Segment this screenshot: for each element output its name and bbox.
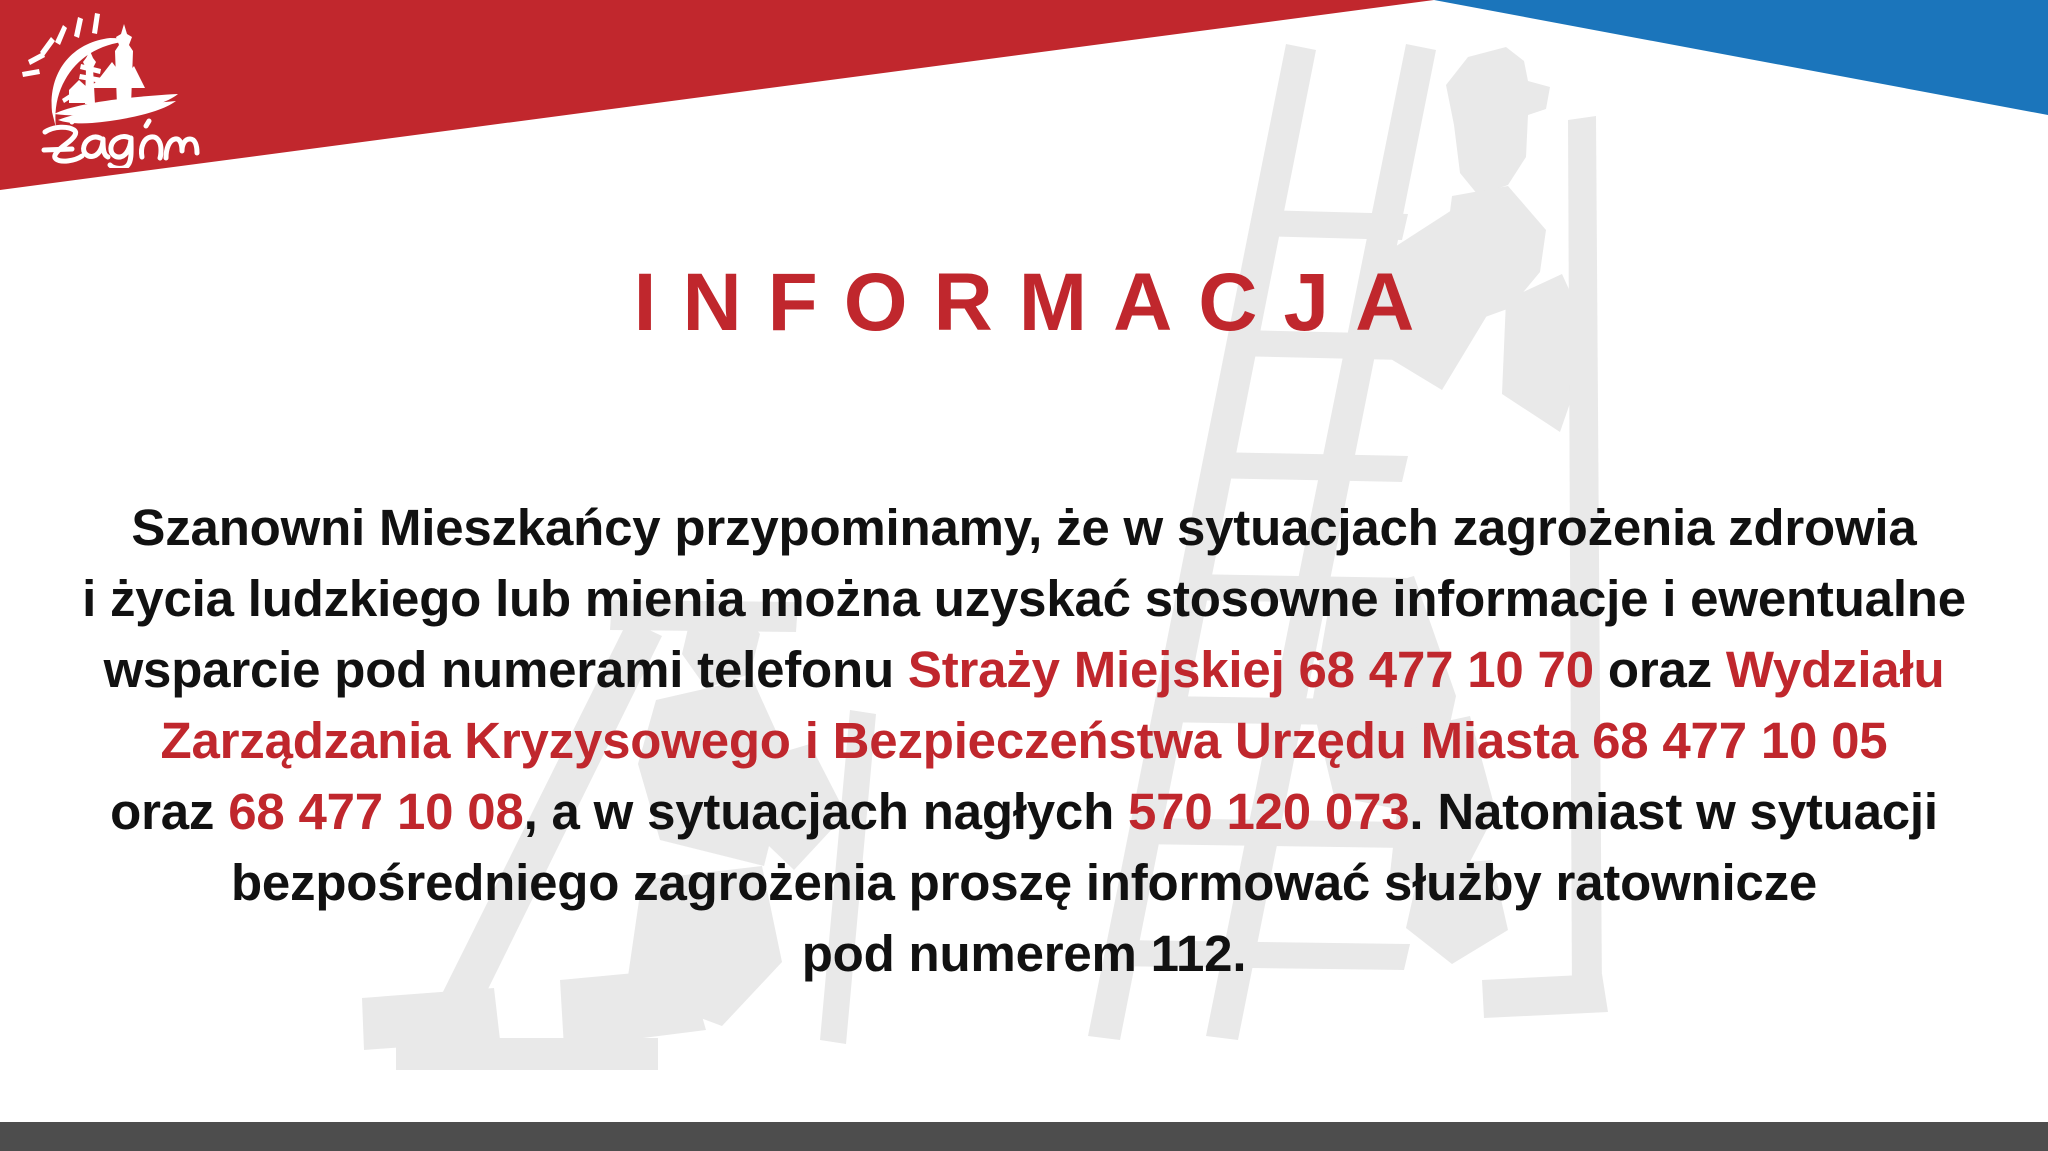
body-text-segment: Szanowni Mieszkańcy przypominamy, że w s… bbox=[131, 499, 1916, 556]
body-text-segment: oraz bbox=[110, 783, 228, 840]
announcement-line: wsparcie pod numerami telefonu Straży Mi… bbox=[60, 634, 1988, 705]
announcement-line: pod numerem 112. bbox=[60, 918, 1988, 989]
announcement-line: oraz 68 477 10 08, a w sytuacjach nagłyc… bbox=[60, 776, 1988, 847]
information-poster: INFORMACJA Szanowni Mieszkańcy przypomin… bbox=[0, 0, 2048, 1151]
body-text-segment: . Natomiast w sytuacji bbox=[1409, 783, 1937, 840]
body-text-segment: wsparcie pod numerami telefonu bbox=[104, 641, 908, 698]
body-text-segment: pod numerem 112. bbox=[802, 925, 1247, 982]
announcement-line: i życia ludzkiego lub mienia można uzysk… bbox=[60, 563, 1988, 634]
highlighted-phone-text: Straży Miejskiej 68 477 10 70 bbox=[908, 641, 1594, 698]
announcement-line: Szanowni Mieszkańcy przypominamy, że w s… bbox=[60, 492, 1988, 563]
announcement-line: bezpośredniego zagrożenia proszę informo… bbox=[60, 847, 1988, 918]
body-text-segment: oraz bbox=[1594, 641, 1726, 698]
page-title: INFORMACJA bbox=[0, 262, 2048, 344]
announcement-body: Szanowni Mieszkańcy przypominamy, że w s… bbox=[60, 492, 1988, 989]
highlighted-phone-text: Wydziału bbox=[1726, 641, 1945, 698]
highlighted-phone-text: 68 477 10 08 bbox=[228, 783, 523, 840]
poster-content: INFORMACJA Szanowni Mieszkańcy przypomin… bbox=[0, 0, 2048, 1151]
body-text-segment: , a w sytuacjach nagłych bbox=[524, 783, 1128, 840]
highlighted-phone-text: 570 120 073 bbox=[1128, 783, 1409, 840]
highlighted-phone-text: Zarządzania Kryzysowego i Bezpieczeństwa… bbox=[161, 712, 1888, 769]
zagan-logo bbox=[18, 8, 238, 168]
body-text-segment: bezpośredniego zagrożenia proszę informo… bbox=[231, 854, 1817, 911]
bottom-bar bbox=[0, 1122, 2048, 1151]
body-text-segment: i życia ludzkiego lub mienia można uzysk… bbox=[82, 570, 1966, 627]
announcement-line: Zarządzania Kryzysowego i Bezpieczeństwa… bbox=[60, 705, 1988, 776]
